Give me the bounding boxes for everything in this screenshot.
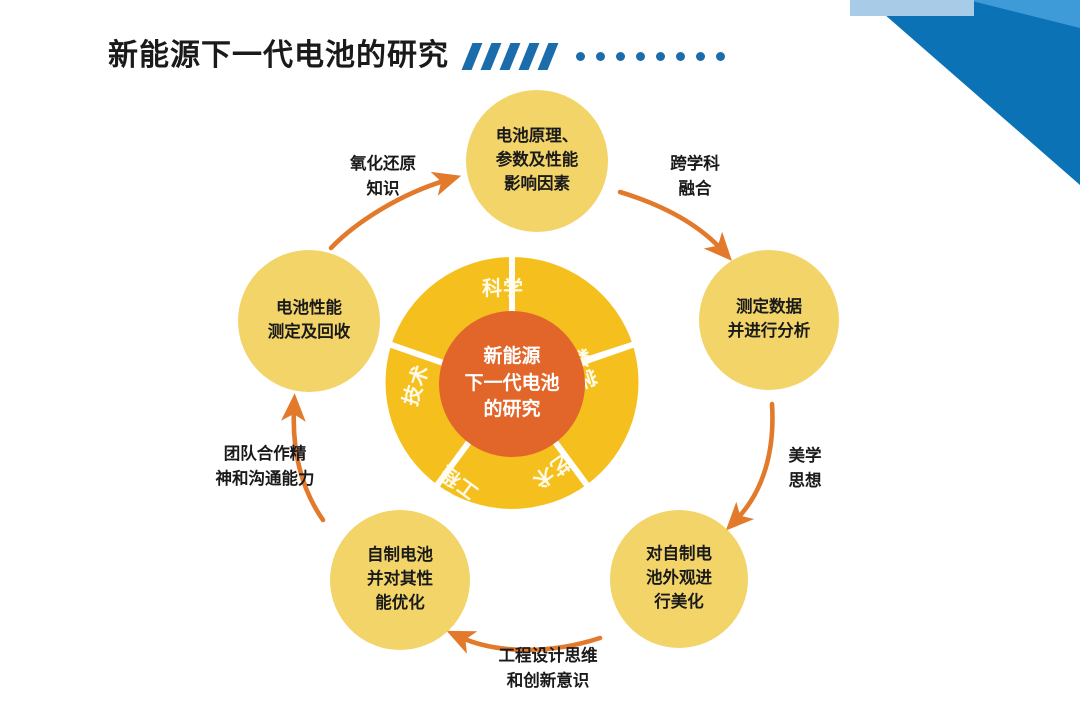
slide-canvas: 新能源下一代电池的研究 <box>0 0 1080 715</box>
connector-label-interdisciplinary: 跨学科 融合 <box>640 152 750 202</box>
segment-label-science: 科学 <box>482 272 524 301</box>
node-bright-label: 对自制电 池外观进 行美化 <box>646 543 712 615</box>
node-left-label: 电池性能 测定及回收 <box>268 297 351 345</box>
node-bleft-label: 自制电池 并对其性 能优化 <box>367 544 433 616</box>
connector-label-engineering-thinking: 工程设计思维 和创新意识 <box>458 644 638 694</box>
node-top-label: 电池原理、 参数及性能 影响因素 <box>496 125 579 197</box>
node-right-label: 测定数据 并进行分析 <box>728 296 811 344</box>
node-measure-data[interactable]: 测定数据 并进行分析 <box>699 250 839 390</box>
node-performance-recycle[interactable]: 电池性能 测定及回收 <box>238 250 380 392</box>
diagram-hub: 新能源 下一代电池 的研究 <box>439 311 585 457</box>
node-build-optimize-battery[interactable]: 自制电池 并对其性 能优化 <box>330 510 470 650</box>
connector-label-redox-knowledge: 氧化还原 知识 <box>318 152 448 202</box>
steam-donut: 科学 数学 艺术 工程 技术 新能源 下一代电池 的研究 <box>378 250 646 518</box>
node-battery-principles[interactable]: 电池原理、 参数及性能 影响因素 <box>466 90 608 232</box>
hub-label: 新能源 下一代电池 的研究 <box>464 344 559 424</box>
node-beautify-appearance[interactable]: 对自制电 池外观进 行美化 <box>610 510 748 648</box>
connector-label-teamwork: 团队合作精 神和沟通能力 <box>185 442 345 492</box>
connector-label-aesthetics: 美学 思想 <box>760 444 850 494</box>
